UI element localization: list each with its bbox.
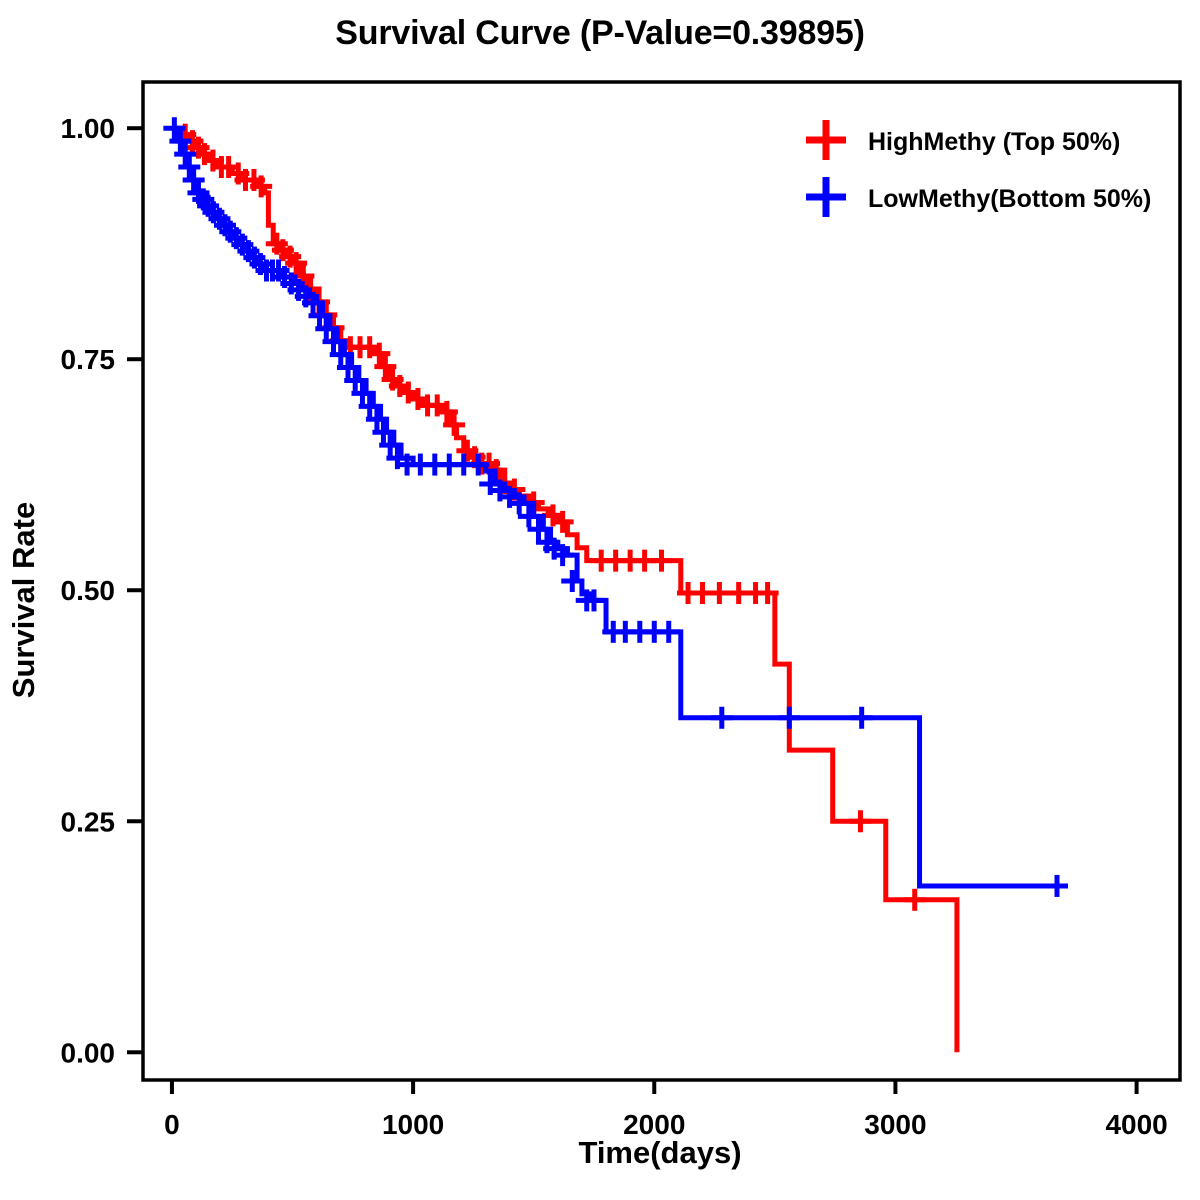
censor-plus-icon [658, 621, 680, 643]
step-line [172, 128, 1062, 886]
chart-legend: HighMethy (Top 50%)LowMethy(Bottom 50%) [806, 120, 1151, 217]
y-tick-label: 0.50 [61, 575, 116, 606]
legend-item-label: LowMethy(Bottom 50%) [868, 185, 1151, 213]
legend-plus-icon [806, 177, 846, 217]
series-layer [163, 117, 1068, 1052]
y-axis-label: Survival Rate [6, 502, 41, 698]
censor-plus-icon [1046, 875, 1068, 897]
series-low-methy [163, 117, 1068, 897]
survival-plot: 01000200030004000 0.000.250.500.751.00 H… [0, 0, 1200, 1200]
legend-item-low-methy[interactable]: LowMethy(Bottom 50%) [806, 177, 1151, 217]
legend-item-high-methy[interactable]: HighMethy (Top 50%) [806, 120, 1120, 160]
y-tick-label: 0.75 [61, 344, 116, 375]
x-tick-label: 4000 [1105, 1109, 1167, 1140]
censor-plus-icon [849, 810, 871, 832]
x-axis-label: Time(days) [578, 1135, 741, 1170]
censor-plus-icon [904, 889, 926, 911]
x-axis-ticks: 01000200030004000 [164, 1080, 1168, 1140]
censor-plus-icon [711, 707, 733, 729]
legend-plus-icon [806, 120, 846, 160]
y-tick-label: 0.00 [61, 1037, 116, 1068]
axis-frame [143, 82, 1180, 1080]
censor-plus-icon [851, 707, 873, 729]
x-tick-label: 0 [164, 1109, 180, 1140]
censor-plus-icon [183, 169, 205, 191]
censor-plus-icon [708, 582, 730, 604]
y-tick-label: 0.25 [61, 806, 116, 837]
y-axis-ticks: 0.000.250.500.751.00 [61, 113, 144, 1068]
x-tick-label: 3000 [864, 1109, 926, 1140]
legend-item-label: HighMethy (Top 50%) [868, 128, 1120, 156]
censor-plus-icon [178, 156, 200, 178]
survival-chart-page: Survival Curve (P-Value=0.39895) 0100020… [0, 0, 1200, 1200]
x-tick-label: 1000 [382, 1109, 444, 1140]
censor-plus-icon [651, 550, 673, 572]
censor-plus-icon [778, 707, 800, 729]
y-tick-label: 1.00 [61, 113, 116, 144]
series-high-methy [172, 124, 957, 1053]
